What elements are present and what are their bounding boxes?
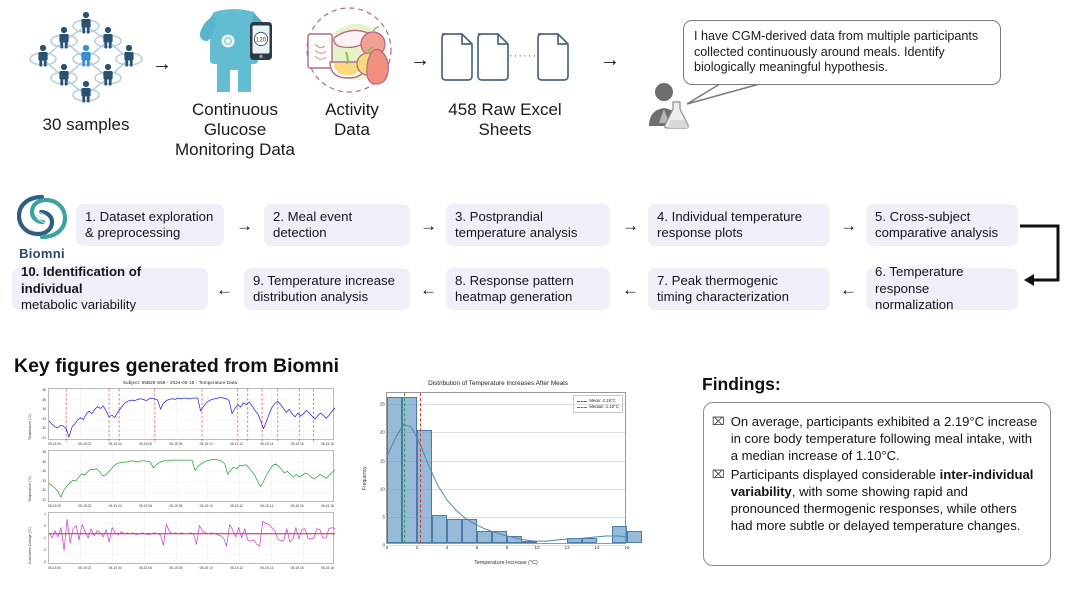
workflow-step-3[interactable]: 3. Postprandial temperature analysis xyxy=(446,204,610,246)
speech-bubble: I have CGM-derived data from multiple pa… xyxy=(683,20,1001,85)
workflow-step-10-label: metabolic variability xyxy=(21,297,136,312)
workflow-step-6[interactable]: 6. Temperature response normalization xyxy=(866,268,1018,310)
histogram-kde-curve xyxy=(387,393,627,545)
workflow-step-1-label: 1. Dataset exploration & preprocessing xyxy=(85,209,213,242)
findings-item-text: On average, participants exhibited a 2.1… xyxy=(731,413,1038,465)
scientist-flask-icon xyxy=(643,78,695,130)
histogram-xtick: 8 xyxy=(506,545,509,550)
workflow-step-3-label: 3. Postprandial temperature analysis xyxy=(455,209,577,242)
workflow-arrow-6-7: ← xyxy=(840,281,857,298)
document-sheets-icon: ······ xyxy=(438,28,572,86)
histogram-ylabel: Frequency xyxy=(362,466,368,490)
food-activity-icon xyxy=(296,4,402,98)
arrow-icon-1: → xyxy=(152,54,172,74)
workflow-step-1[interactable]: 1. Dataset exploration & preprocessing xyxy=(76,204,224,246)
workflow-arrow-3-4: → xyxy=(622,217,639,234)
histogram-ytick: 10 xyxy=(380,486,385,491)
biomni-wordmark: Biomni xyxy=(10,246,74,261)
histogram-xtick: 4 xyxy=(446,545,449,550)
svg-text:······: ······ xyxy=(509,50,537,62)
key-figures-heading: Key figures generated from Biomni xyxy=(14,355,339,378)
temperature-timeseries-figure: Subject: 65B25-S56 - 2024-05-15 - Temper… xyxy=(20,380,340,580)
workflow-step-10[interactable]: 10. Identification of individual metabol… xyxy=(12,268,208,310)
timeseries-panel-1 xyxy=(48,388,334,440)
excel-caption: 458 Raw Excel Sheets xyxy=(430,100,580,140)
workflow-arrow-4-5: → xyxy=(840,217,857,234)
workflow-step-10-bold: 10. Identification of individual xyxy=(21,264,141,296)
workflow-step-4-label: 4. Individual temperature response plots xyxy=(657,209,802,242)
histogram-xtick: 12 xyxy=(564,545,569,550)
speech-bubble-text: I have CGM-derived data from multiple pa… xyxy=(694,29,978,74)
findings-item: ⌧On average, participants exhibited a 2.… xyxy=(712,413,1038,465)
workflow-step-5-label: 5. Cross-subject comparative analysis xyxy=(875,209,998,242)
timeseries-xticks: 05-15 0005-15 0205-15 0405-15 0605-15 08… xyxy=(48,504,334,508)
workflow-step-7-label: 7. Peak thermogenic timing characterizat… xyxy=(657,273,789,306)
histogram-bar xyxy=(627,531,642,543)
biomni-logo: Biomni xyxy=(10,194,74,256)
timeseries-panel-3 xyxy=(48,512,334,564)
workflow-step-4[interactable]: 4. Individual temperature response plots xyxy=(648,204,830,246)
timeseries-xticks: 05-15 0005-15 0205-15 0405-15 0605-15 08… xyxy=(48,442,334,446)
histogram-annotation-line xyxy=(420,393,421,543)
bullet-icon: ⌧ xyxy=(712,466,725,535)
histogram-xtick: 0 xyxy=(386,545,389,550)
histogram-plot-area: Mean: 2.19°CMedian: 1.10°C 0510152025024… xyxy=(386,392,626,544)
findings-box: ⌧On average, participants exhibited a 2.… xyxy=(703,402,1051,566)
people-network-icon xyxy=(22,8,150,108)
timeseries-title: Subject: 65B25-S56 - 2024-05-15 - Temper… xyxy=(20,380,340,385)
findings-item-text: Participants displayed considerable inte… xyxy=(731,466,1038,535)
findings-item: ⌧Participants displayed considerable int… xyxy=(712,466,1038,535)
activity-caption: Activity Data xyxy=(300,100,404,140)
histogram-xtick: 10 xyxy=(534,545,539,550)
histogram-ytick: 20 xyxy=(380,430,385,435)
svg-text:120: 120 xyxy=(256,37,267,43)
workflow-step-2[interactable]: 2. Meal event detection xyxy=(264,204,410,246)
workflow-step-9[interactable]: 9. Temperature increase distribution ana… xyxy=(244,268,410,310)
bullet-icon: ⌧ xyxy=(712,413,725,465)
workflow-step-5[interactable]: 5. Cross-subject comparative analysis xyxy=(866,204,1018,246)
histogram-xtick: 2 xyxy=(416,545,419,550)
cgm-caption: Continuous Glucose Monitoring Data xyxy=(168,100,302,160)
histogram-xtick: 16 xyxy=(624,545,629,550)
workflow-arrow-9-10: ← xyxy=(216,281,233,298)
workflow-arrow-8-9: ← xyxy=(420,281,437,298)
timeseries-xticks: 05-15 0005-15 0205-15 0405-15 0605-15 08… xyxy=(48,566,334,570)
histogram-xlabel: Temperature Increase (°C) xyxy=(386,560,626,566)
input-pipeline-row: 30 samples → 120 Continuous Glucose Moni… xyxy=(0,0,1080,180)
workflow-step-8-label: 8. Response pattern heatmap generation xyxy=(455,273,574,306)
findings-heading: Findings: xyxy=(702,374,781,395)
timeseries-yticks: 363534333231 xyxy=(20,450,46,502)
workflow-diagram: Biomni 1. Dataset exploration & preproce… xyxy=(0,188,1080,328)
histogram-ytick: 15 xyxy=(380,458,385,463)
workflow-arrow-1-2: → xyxy=(236,217,253,234)
workflow-step-7[interactable]: 7. Peak thermogenic timing characterizat… xyxy=(648,268,830,310)
histogram-ytick: 5 xyxy=(382,514,385,519)
histogram-ytick: 0 xyxy=(382,543,385,548)
findings-list: ⌧On average, participants exhibited a 2.… xyxy=(712,413,1038,534)
workflow-step-6-label: 6. Temperature response normalization xyxy=(875,264,1009,314)
workflow-step-8[interactable]: 8. Response pattern heatmap generation xyxy=(446,268,610,310)
histogram-annotation-line xyxy=(404,393,405,543)
arrow-icon-3: → xyxy=(600,50,620,70)
histogram-figure: Distribution of Temperature Increases Af… xyxy=(356,378,640,572)
timeseries-yticks: 363534333231 xyxy=(20,388,46,440)
workflow-loop-connector xyxy=(1018,206,1076,298)
histogram-xtick: 14 xyxy=(594,545,599,550)
arrow-icon-2: → xyxy=(410,50,430,70)
workflow-arrow-7-8: ← xyxy=(622,281,639,298)
timeseries-panel-2 xyxy=(48,450,334,502)
histogram-title: Distribution of Temperature Increases Af… xyxy=(356,380,640,387)
histogram-xtick: 6 xyxy=(476,545,479,550)
cgm-sensor-torso-icon: 120 xyxy=(184,4,284,96)
workflow-step-9-label: 9. Temperature increase distribution ana… xyxy=(253,273,395,306)
histogram-ytick: 25 xyxy=(380,402,385,407)
samples-caption: 30 samples xyxy=(18,115,154,135)
workflow-arrow-2-3: → xyxy=(420,217,437,234)
workflow-step-2-label: 2. Meal event detection xyxy=(273,209,401,242)
timeseries-yticks: 10-1-2-3 xyxy=(20,512,46,564)
